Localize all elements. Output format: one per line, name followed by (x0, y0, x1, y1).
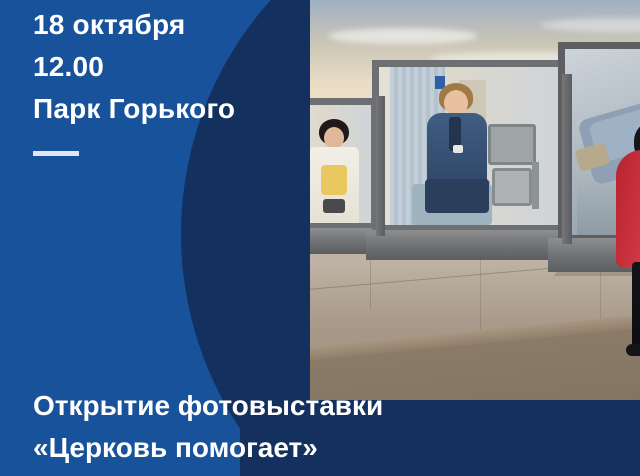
poster-footer: Открытие фотовыставки «Церковь помогает» (33, 385, 383, 469)
visitor-trousers (632, 262, 640, 350)
event-poster: 18 октября 12.00 Парк Горького Открытие … (0, 0, 640, 476)
photo-scene (310, 0, 640, 400)
event-time: 12.00 (33, 46, 235, 88)
panel-post (562, 74, 572, 244)
visitor-in-red-coat (610, 120, 640, 360)
event-title-line2: «Церковь помогает» (33, 427, 383, 469)
cloud-icon (540, 18, 640, 32)
exhibition-panel-left (310, 98, 378, 230)
exhibition-panel-middle (372, 60, 568, 232)
event-date: 18 октября (33, 4, 235, 46)
panel-post (376, 96, 385, 236)
event-title-line1: Открытие фотовыставки (33, 385, 383, 427)
visitor-shoe-left (626, 344, 640, 356)
panel-plinth (366, 230, 574, 260)
divider-rule (33, 151, 79, 156)
event-venue: Парк Горького (33, 88, 235, 130)
cloud-icon (328, 28, 478, 44)
poster-headline: 18 октября 12.00 Парк Горького (33, 4, 235, 130)
visitor-red-coat (616, 150, 640, 268)
